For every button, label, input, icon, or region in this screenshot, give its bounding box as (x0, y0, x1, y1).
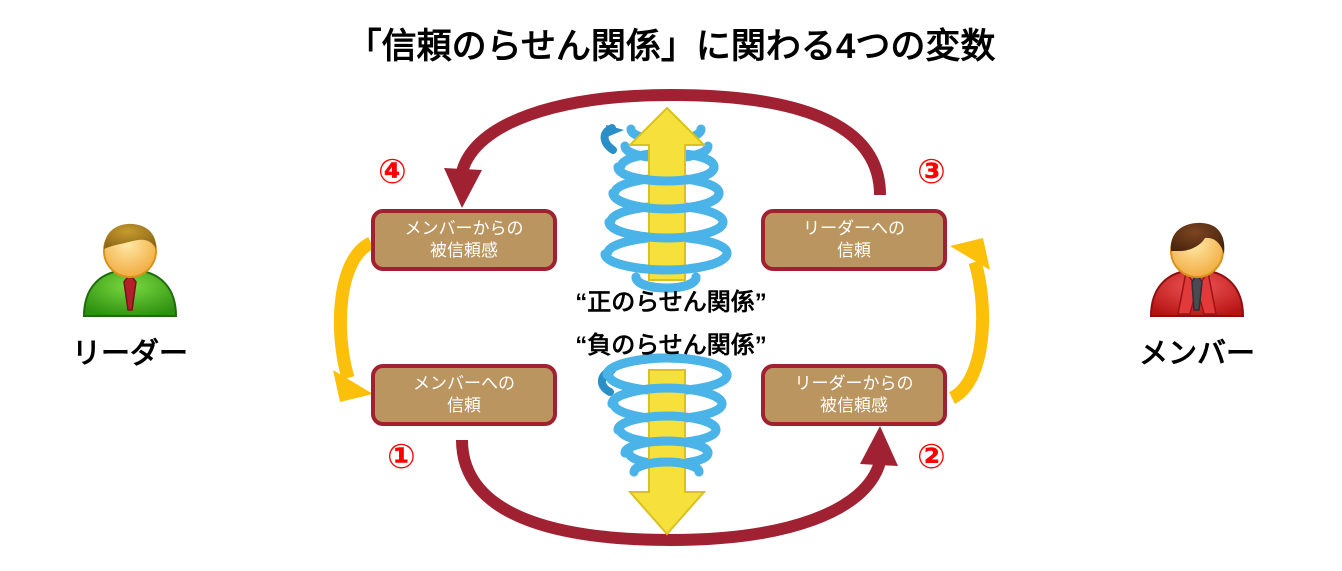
box-2-line2: 被信頼感 (820, 395, 888, 417)
spiral-up-top-curl (605, 125, 624, 150)
spiral-up-arrow (630, 108, 704, 280)
step-number-2: ② (917, 440, 946, 474)
spiral-down-top-curl (602, 370, 612, 392)
spiral-up-front-coils (605, 167, 727, 288)
box-1-line2: 信頼 (447, 395, 481, 417)
box-4-line2: 被信頼感 (430, 240, 498, 262)
diagram-canvas: 「信頼のらせん関係」に関わる4つの変数 (0, 0, 1342, 571)
spiral-down-front-coils (607, 358, 727, 472)
step-number-1: ① (387, 440, 416, 474)
spiral-up-coils (605, 129, 727, 288)
negative-spiral-label: “負のらせん関係” (0, 325, 1342, 360)
spiral-down-coils (607, 358, 727, 472)
concept-box-member-trusted-feeling[interactable]: メンバーからの 被信頼感 (371, 209, 557, 271)
concept-box-leader-trusted-feeling[interactable]: リーダーからの 被信頼感 (761, 364, 947, 426)
positive-spiral-label: “正のらせん関係” (0, 282, 1342, 317)
page-title: 「信頼のらせん関係」に関わる4つの変数 (0, 18, 1342, 69)
box-2-line1: リーダーからの (795, 373, 914, 395)
box-3-line1: リーダーへの (803, 218, 905, 240)
box-4-line1: メンバーからの (405, 218, 524, 240)
bottom-arc-arrow (462, 426, 898, 540)
top-arc-arrow (444, 95, 880, 208)
right-arc-arrow (950, 238, 990, 398)
step-number-3: ③ (917, 155, 946, 189)
concept-box-trust-in-member[interactable]: メンバーへの 信頼 (371, 364, 557, 426)
step-number-4: ④ (378, 155, 407, 189)
concept-box-trust-in-leader[interactable]: リーダーへの 信頼 (761, 209, 947, 271)
spiral-down-arrow (630, 370, 704, 534)
box-1-line1: メンバーへの (413, 373, 515, 395)
left-arc-arrow (333, 243, 373, 402)
box-3-line2: 信頼 (837, 240, 871, 262)
